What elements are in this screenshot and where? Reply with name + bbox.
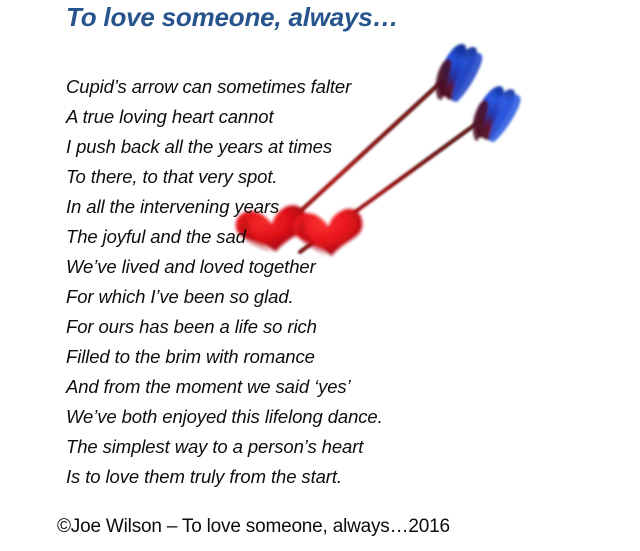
copyright-credit: ©Joe Wilson – To love someone, always…20… — [57, 516, 450, 538]
poem-line: We’ve lived and loved together — [66, 252, 486, 282]
poem-line: The joyful and the sad — [66, 222, 486, 252]
poem-page: To love someone, always… — [0, 0, 640, 551]
poem-line: In all the intervening years — [66, 192, 486, 222]
poem-body: Cupid’s arrow can sometimes falter A tru… — [66, 72, 486, 492]
poem-line: For ours has been a life so rich — [66, 312, 486, 342]
poem-line: The simplest way to a person’s heart — [66, 432, 486, 462]
poem-line: I push back all the years at times — [66, 132, 486, 162]
poem-line: For which I’ve been so glad. — [66, 282, 486, 312]
poem-line: Filled to the brim with romance — [66, 342, 486, 372]
poem-line: Cupid’s arrow can sometimes falter — [66, 72, 486, 102]
poem-line: We’ve both enjoyed this lifelong dance. — [66, 402, 486, 432]
poem-line: And from the moment we said ‘yes’ — [66, 372, 486, 402]
poem-line: Is to love them truly from the start. — [66, 462, 486, 492]
poem-line: To there, to that very spot. — [66, 162, 486, 192]
page-title: To love someone, always… — [66, 2, 398, 33]
poem-line: A true loving heart cannot — [66, 102, 486, 132]
